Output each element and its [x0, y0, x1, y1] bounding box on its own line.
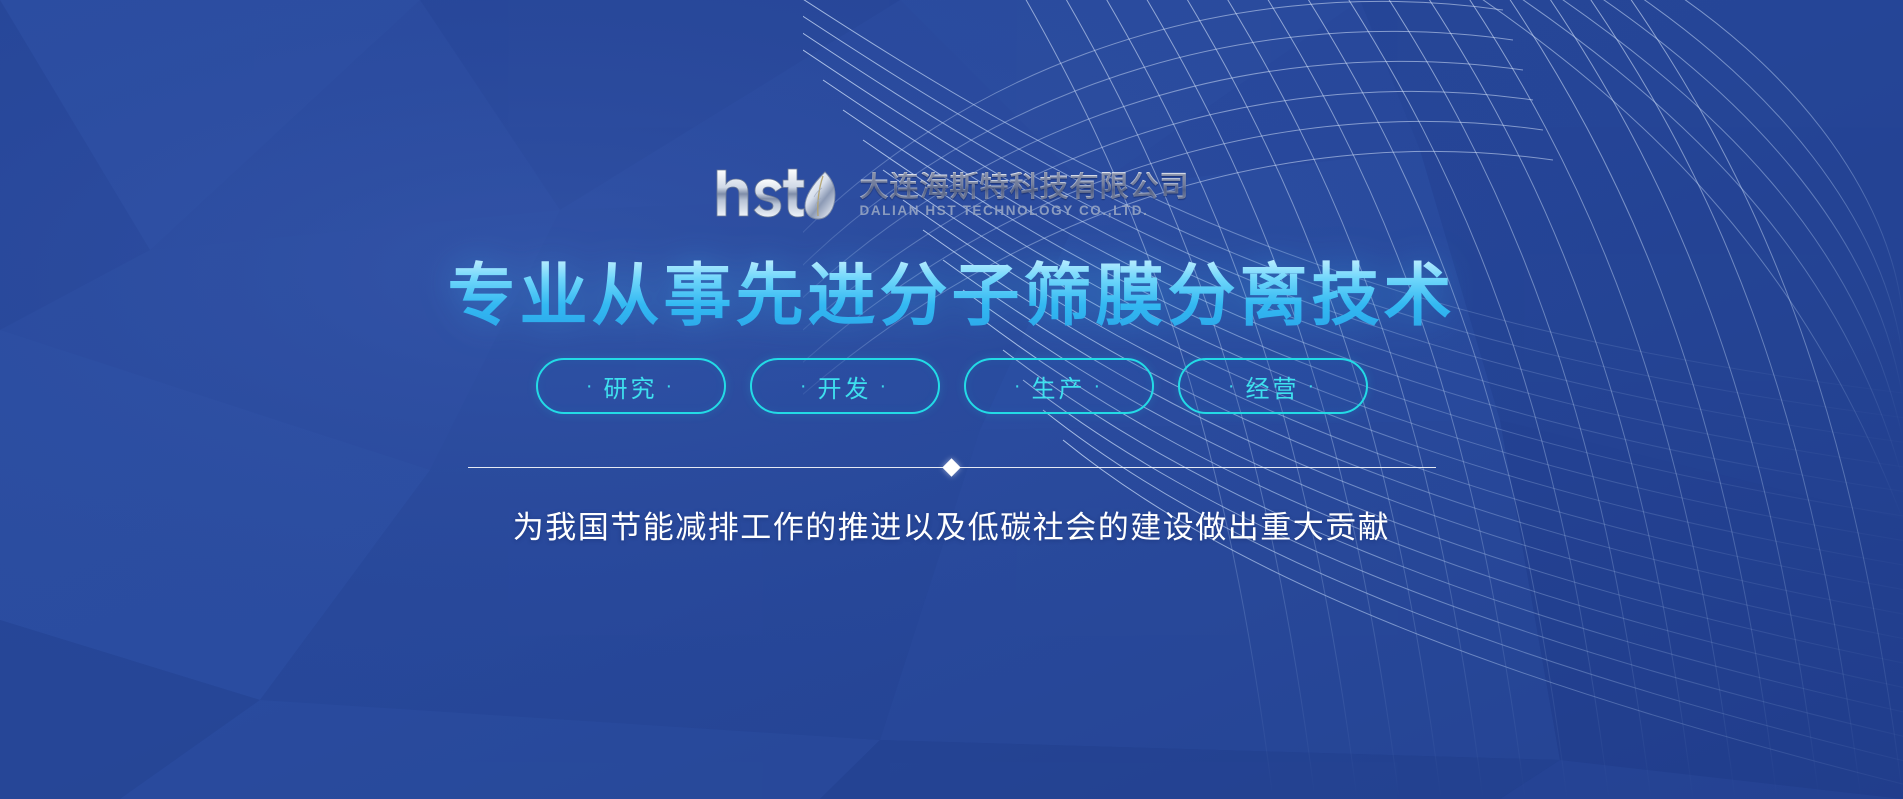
pill-operations[interactable]: · 经营 ·	[1178, 358, 1368, 414]
pill-dot-right: ·	[1094, 375, 1104, 398]
pill-research[interactable]: · 研究 ·	[536, 358, 726, 414]
hst-wordmark-icon	[713, 166, 845, 224]
pill-dot-right: ·	[1308, 375, 1318, 398]
hero-banner: 大连海斯特科技有限公司 DALIAN HST TECHNOLOGY CO.,LT…	[0, 0, 1903, 799]
pill-dot-right: ·	[880, 375, 890, 398]
pill-dot-left: ·	[1228, 375, 1238, 398]
pill-development[interactable]: · 开发 ·	[750, 358, 940, 414]
pill-dot-left: ·	[1014, 375, 1024, 398]
pill-label: 开发	[818, 369, 872, 404]
capability-pill-group: · 研究 · · 开发 · · 生产 · · 经营 ·	[536, 358, 1368, 414]
company-name-block: 大连海斯特科技有限公司 DALIAN HST TECHNOLOGY CO.,LT…	[859, 172, 1189, 218]
section-divider	[468, 460, 1436, 474]
hero-headline: 专业从事先进分子筛膜分离技术	[447, 260, 1455, 332]
pill-label: 经营	[1246, 369, 1300, 404]
divider-ornament-wrap	[932, 461, 971, 474]
company-logo: 大连海斯特科技有限公司 DALIAN HST TECHNOLOGY CO.,LT…	[713, 166, 1189, 224]
pill-dot-left: ·	[586, 375, 596, 398]
hero-tagline: 为我国节能减排工作的推进以及低碳社会的建设做出重大贡献	[513, 502, 1391, 547]
company-name-en: DALIAN HST TECHNOLOGY CO.,LTD.	[859, 204, 1189, 218]
pill-label: 研究	[604, 369, 658, 404]
pill-dot-right: ·	[666, 375, 676, 398]
pill-label: 生产	[1032, 369, 1086, 404]
banner-content: 大连海斯特科技有限公司 DALIAN HST TECHNOLOGY CO.,LT…	[0, 0, 1903, 799]
diamond-ornament-icon	[942, 458, 960, 476]
pill-production[interactable]: · 生产 ·	[964, 358, 1154, 414]
company-name-cn: 大连海斯特科技有限公司	[859, 172, 1189, 202]
pill-dot-left: ·	[800, 375, 810, 398]
